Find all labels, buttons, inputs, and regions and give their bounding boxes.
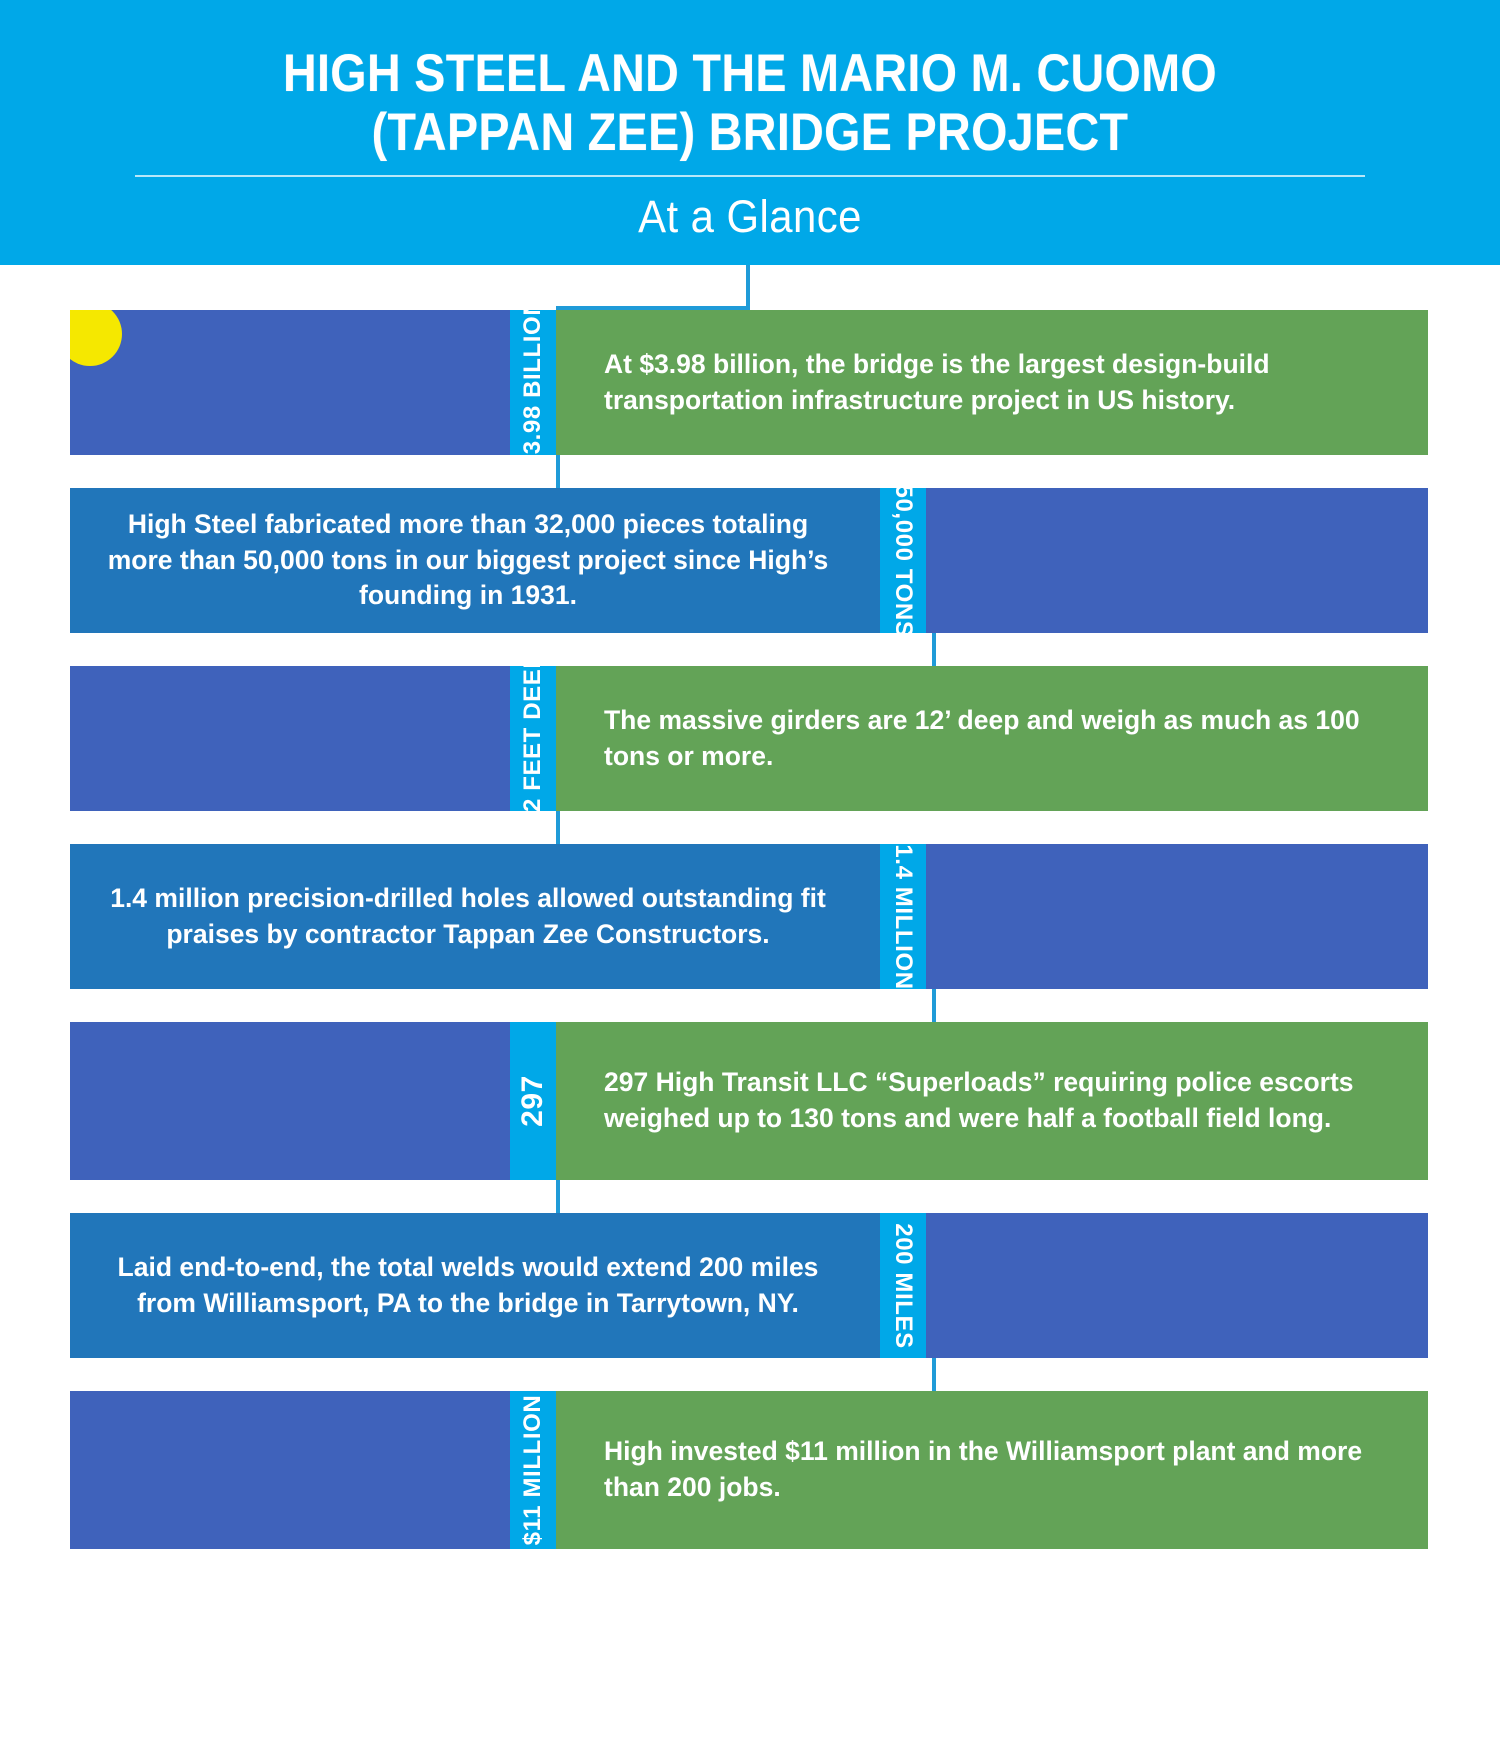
stat-text-drilled-holes: 1.4 million precision-drilled holes allo… xyxy=(70,881,880,953)
illustration-steel-girders xyxy=(926,488,1428,633)
page-title: HIGH STEEL AND THE MARIO M. CUOMO (TAPPA… xyxy=(90,44,1410,163)
stat-row-superloads: OVERSIZE LOAD 297 297 High Transit LLC “… xyxy=(70,1022,1428,1180)
stat-text-superloads: 297 High Transit LLC “Superloads” requir… xyxy=(556,1065,1428,1137)
stat-row-cost: $3.98 BILLION At $3.98 billion, the brid… xyxy=(70,310,1428,455)
stat-text-tonnage: High Steel fabricated more than 32,000 p… xyxy=(70,507,880,614)
text-panel-superloads: 297 High Transit LLC “Superloads” requir… xyxy=(556,1022,1428,1180)
badge-welds: 200 MILES xyxy=(880,1213,926,1358)
stat-row-drilled-holes: 1.4 million precision-drilled holes allo… xyxy=(70,844,1428,989)
infographic-page: HIGH STEEL AND THE MARIO M. CUOMO (TAPPA… xyxy=(0,0,1500,1764)
badge-drilled-holes: 1.4 MILLION xyxy=(880,844,926,989)
text-panel-tonnage: High Steel fabricated more than 32,000 p… xyxy=(70,488,880,633)
text-panel-drilled-holes: 1.4 million precision-drilled holes allo… xyxy=(70,844,880,989)
stat-text-cost: At $3.98 billion, the bridge is the larg… xyxy=(556,347,1428,419)
badge-investment: $11 MILLION xyxy=(510,1391,556,1549)
illustration-girder-with-workers xyxy=(70,666,510,811)
header-divider xyxy=(135,175,1365,177)
illustration-route-map xyxy=(926,1213,1428,1358)
illustration-power-drill xyxy=(926,844,1428,989)
connector-segment xyxy=(746,265,750,310)
page-subtitle: At a Glance xyxy=(53,191,1448,243)
illustration-cable-stayed-bridge xyxy=(70,310,510,455)
stat-text-girder-depth: The massive girders are 12’ deep and wei… xyxy=(556,703,1428,775)
text-panel-welds: Laid end-to-end, the total welds would e… xyxy=(70,1213,880,1358)
illustration-plant-and-workers xyxy=(70,1391,510,1549)
illustration-oversize-load-truck: OVERSIZE LOAD xyxy=(70,1022,510,1180)
badge-cost: $3.98 BILLION xyxy=(510,310,556,455)
stat-row-investment: $11 MILLION High invested $11 million in… xyxy=(70,1391,1428,1549)
text-panel-cost: At $3.98 billion, the bridge is the larg… xyxy=(556,310,1428,455)
page-title-line1: HIGH STEEL AND THE MARIO M. CUOMO xyxy=(90,44,1410,103)
stat-text-investment: High invested $11 million in the William… xyxy=(556,1434,1428,1506)
badge-tonnage: 50,000 TONS xyxy=(880,488,926,633)
page-title-line2: (TAPPAN ZEE) BRIDGE PROJECT xyxy=(90,103,1410,162)
stat-row-girder-depth: 12 FEET DEEP The massive girders are 12’… xyxy=(70,666,1428,811)
page-header: HIGH STEEL AND THE MARIO M. CUOMO (TAPPA… xyxy=(0,0,1500,265)
badge-superloads: 297 xyxy=(510,1022,556,1180)
text-panel-investment: High invested $11 million in the William… xyxy=(556,1391,1428,1549)
stat-row-welds: Laid end-to-end, the total welds would e… xyxy=(70,1213,1428,1358)
stat-text-welds: Laid end-to-end, the total welds would e… xyxy=(70,1250,880,1322)
stat-row-tonnage: High Steel fabricated more than 32,000 p… xyxy=(70,488,1428,633)
text-panel-girder-depth: The massive girders are 12’ deep and wei… xyxy=(556,666,1428,811)
badge-girder-depth: 12 FEET DEEP xyxy=(510,666,556,811)
